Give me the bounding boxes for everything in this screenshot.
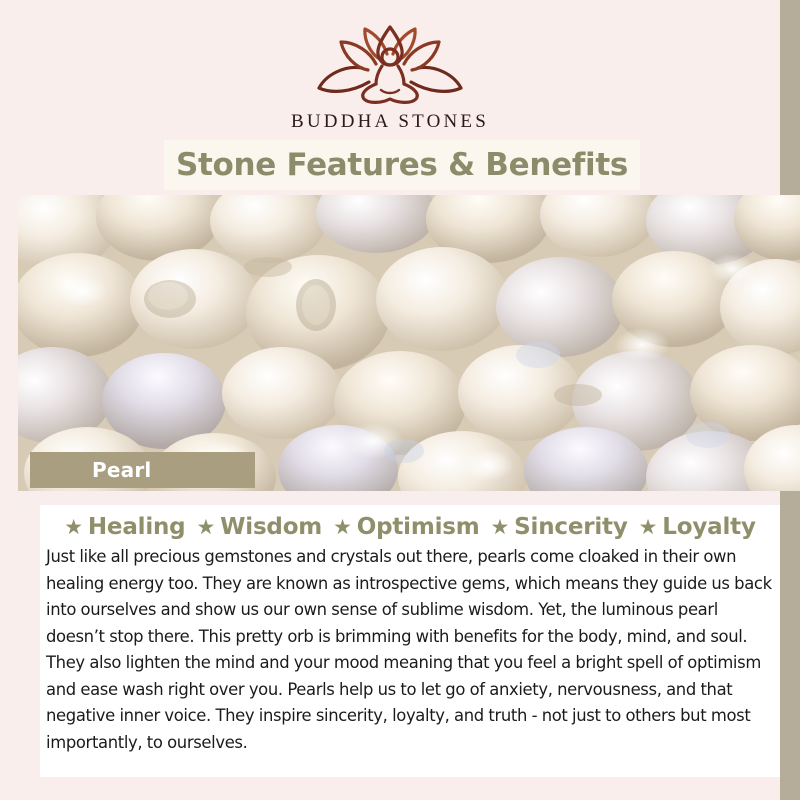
benefit-label: Loyalty xyxy=(662,514,755,540)
star-icon: ★ xyxy=(639,517,658,538)
bottom-pink-strip xyxy=(40,777,780,800)
pearl-stones-photo xyxy=(18,195,800,491)
benefit-label: Optimism xyxy=(357,514,480,540)
benefits-row: ★ Healing ★ Wisdom ★ Optimism ★ Sincerit… xyxy=(40,514,780,540)
stone-name-band: Pearl xyxy=(30,452,255,488)
description-text: Just like all precious gemstones and cry… xyxy=(40,544,780,756)
content-panel: ★ Healing ★ Wisdom ★ Optimism ★ Sincerit… xyxy=(40,505,780,777)
star-icon: ★ xyxy=(196,517,215,538)
brand-logo-block: BUDDHA STONES xyxy=(0,20,780,131)
benefit-label: Healing xyxy=(88,514,186,540)
star-icon: ★ xyxy=(64,517,83,538)
benefit-label: Sincerity xyxy=(514,514,627,540)
benefit-item: ★ Optimism xyxy=(333,514,479,540)
benefit-item: ★ Sincerity xyxy=(491,514,628,540)
star-icon: ★ xyxy=(333,517,352,538)
page-title-band: Stone Features & Benefits xyxy=(164,140,640,190)
photo-panel-separator xyxy=(18,491,780,505)
stone-name: Pearl xyxy=(92,458,151,482)
brand-name: BUDDHA STONES xyxy=(0,112,780,131)
benefit-item: ★ Loyalty xyxy=(639,514,756,540)
benefit-item: ★ Healing xyxy=(64,514,185,540)
star-icon: ★ xyxy=(491,517,510,538)
benefit-label: Wisdom xyxy=(220,514,322,540)
lotus-meditation-icon xyxy=(308,20,472,106)
benefit-item: ★ Wisdom xyxy=(196,514,322,540)
page-title: Stone Features & Benefits xyxy=(176,147,628,183)
stone-benefits-poster: BUDDHA STONES Stone Features & Benefits xyxy=(0,0,800,800)
